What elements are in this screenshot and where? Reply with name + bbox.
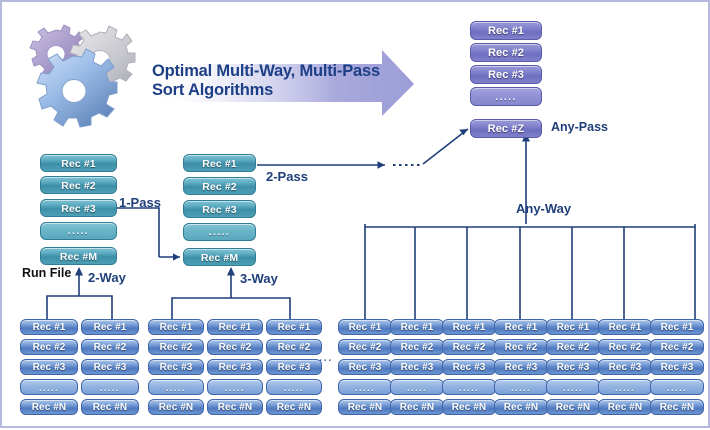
leaf-row: Rec #1: [442, 319, 496, 335]
any-pass-label: Any-Pass: [551, 120, 608, 134]
leaf-row: Rec #N: [81, 399, 139, 415]
title-line-2: Sort Algorithms: [152, 81, 380, 100]
leaf-row: Rec #1: [390, 319, 444, 335]
leaf-row: Rec #2: [266, 339, 322, 355]
leaf-row: .....: [546, 379, 600, 395]
leaf-row: .....: [20, 379, 78, 395]
leaf-row: Rec #3: [266, 359, 322, 375]
one-pass-label: 1-Pass: [119, 195, 161, 210]
leaf-row: Rec #2: [148, 339, 204, 355]
leaf-row: Rec #N: [442, 399, 496, 415]
leaf-row: Rec #2: [338, 339, 392, 355]
final-stack-row: Rec #3: [470, 65, 542, 84]
pass2-stack-row: Rec #2: [183, 177, 256, 195]
leaf-row: Rec #3: [207, 359, 263, 375]
leaf-row: Rec #2: [494, 339, 548, 355]
leaf-row: Rec #N: [266, 399, 322, 415]
leaf-row: Rec #2: [650, 339, 704, 355]
leaf-row: Rec #2: [81, 339, 139, 355]
pass2-stack-row: Rec #3: [183, 200, 256, 218]
leaf-row: Rec #N: [546, 399, 600, 415]
leaf-row: Rec #2: [442, 339, 496, 355]
leaf-row: Rec #2: [546, 339, 600, 355]
leaf-row: .....: [148, 379, 204, 395]
title-line-1: Optimal Multi-Way, Multi-Pass: [152, 62, 380, 81]
leaf-row: Rec #2: [390, 339, 444, 355]
leaf-row: Rec #3: [494, 359, 548, 375]
leaf-row: .....: [650, 379, 704, 395]
final-stack-row: .....: [470, 87, 542, 106]
leaf-row: .....: [442, 379, 496, 395]
leaf-row: Rec #1: [148, 319, 204, 335]
pass1-stack-row: Rec #M: [40, 247, 117, 265]
two-way-label: 2-Way: [88, 270, 126, 285]
leaf-row: Rec #1: [266, 319, 322, 335]
pass1-stack-row: Rec #2: [40, 176, 117, 194]
leaf-row: Rec #1: [20, 319, 78, 335]
leaf-row: Rec #3: [390, 359, 444, 375]
pass1-stack-row: Rec #1: [40, 154, 117, 172]
pass2-stack-row: Rec #M: [183, 248, 256, 266]
leaf-row: Rec #1: [494, 319, 548, 335]
final-stack-row: Rec #1: [470, 21, 542, 40]
leaf-row: .....: [207, 379, 263, 395]
leaf-row: Rec #N: [494, 399, 548, 415]
leaf-row: Rec #2: [20, 339, 78, 355]
leaf-row: Rec #N: [148, 399, 204, 415]
leaf-row: Rec #N: [207, 399, 263, 415]
leaf-row: Rec #1: [598, 319, 652, 335]
run-file-label: Run File: [22, 266, 71, 280]
any-way-label: Any-Way: [516, 201, 571, 216]
leaf-row: Rec #3: [81, 359, 139, 375]
leaf-row: Rec #1: [207, 319, 263, 335]
leaf-row: Rec #1: [546, 319, 600, 335]
leaf-row: Rec #3: [20, 359, 78, 375]
leaf-row: Rec #1: [81, 319, 139, 335]
diagram-canvas: Optimal Multi-Way, Multi-Pass Sort Algor…: [0, 0, 710, 428]
three-way-label: 3-Way: [240, 271, 278, 286]
leaf-row: Rec #3: [148, 359, 204, 375]
page-title: Optimal Multi-Way, Multi-Pass Sort Algor…: [152, 62, 380, 101]
leaf-row: Rec #1: [338, 319, 392, 335]
leaf-row: Rec #2: [207, 339, 263, 355]
leaf-row: Rec #1: [650, 319, 704, 335]
leaf-row: .....: [338, 379, 392, 395]
pass2-stack-row: Rec #1: [183, 154, 256, 172]
pass2-stack-row: .....: [183, 223, 256, 241]
final-stack-row: Rec #Z: [470, 119, 542, 138]
leaf-row: Rec #2: [598, 339, 652, 355]
leaf-row: Rec #N: [598, 399, 652, 415]
pass1-stack-row: Rec #3: [40, 199, 117, 217]
leaf-row: Rec #3: [442, 359, 496, 375]
leaf-row: .....: [81, 379, 139, 395]
leaf-row: Rec #N: [338, 399, 392, 415]
leaf-row: .....: [266, 379, 322, 395]
leaf-row: Rec #3: [338, 359, 392, 375]
final-stack-row: Rec #2: [470, 43, 542, 62]
leaf-row: Rec #N: [20, 399, 78, 415]
leaf-row: Rec #N: [390, 399, 444, 415]
leaf-row: .....: [494, 379, 548, 395]
pass1-stack-row: .....: [40, 222, 117, 240]
leaf-row: Rec #3: [650, 359, 704, 375]
leaf-row: .....: [390, 379, 444, 395]
leaf-row: Rec #N: [650, 399, 704, 415]
leaf-row: .....: [598, 379, 652, 395]
leaf-row: Rec #3: [598, 359, 652, 375]
two-pass-label: 2-Pass: [266, 169, 308, 184]
leaf-row: Rec #3: [546, 359, 600, 375]
